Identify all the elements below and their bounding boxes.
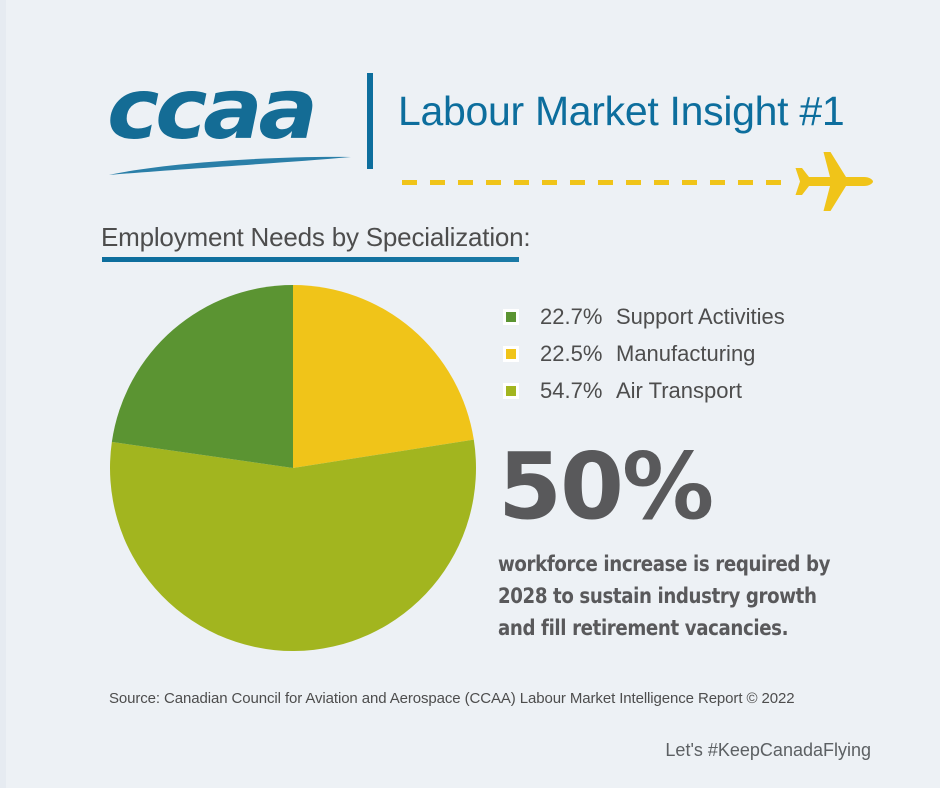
tagline: Let's #KeepCanadaFlying — [665, 740, 871, 761]
chart-legend: 22.7% Support Activities 22.5% Manufactu… — [503, 298, 863, 409]
infographic-page: ccaa Labour Market Insight #1 Employment… — [0, 0, 940, 788]
source-citation: Source: Canadian Council for Aviation an… — [109, 690, 794, 707]
header-divider — [367, 73, 373, 169]
ccaa-logo-wordmark: ccaa — [107, 66, 370, 152]
legend-item: 54.7% Air Transport — [503, 372, 863, 409]
ccaa-logo: ccaa — [107, 66, 357, 176]
legend-percent: 22.7% — [540, 304, 616, 330]
section-underline — [102, 257, 519, 262]
legend-swatch-support-activities — [503, 309, 519, 325]
ccaa-logo-swoosh-icon — [109, 154, 351, 176]
legend-swatch-air-transport — [503, 383, 519, 399]
dashed-flight-path-icon — [402, 180, 794, 185]
legend-percent: 22.5% — [540, 341, 616, 367]
legend-label: Air Transport — [616, 378, 863, 404]
airplane-icon — [790, 150, 874, 212]
section-title: Employment Needs by Specialization: — [101, 222, 530, 253]
page-title: Labour Market Insight #1 — [398, 88, 844, 135]
legend-label: Support Activities — [616, 304, 863, 330]
legend-item: 22.7% Support Activities — [503, 298, 863, 335]
legend-item: 22.5% Manufacturing — [503, 335, 863, 372]
header: ccaa Labour Market Insight #1 — [6, 0, 940, 215]
stat-description: workforce increase is required by 2028 t… — [498, 549, 836, 645]
pie-slice-manufacturing — [293, 285, 474, 468]
legend-percent: 54.7% — [540, 378, 616, 404]
pie-chart — [110, 284, 476, 652]
pie-chart-svg — [110, 284, 476, 652]
legend-swatch-manufacturing — [503, 346, 519, 362]
pie-slice-air-transport — [110, 440, 476, 651]
stat-number: 50% — [498, 441, 712, 533]
legend-label: Manufacturing — [616, 341, 863, 367]
pie-slice-support-activities — [112, 285, 293, 468]
